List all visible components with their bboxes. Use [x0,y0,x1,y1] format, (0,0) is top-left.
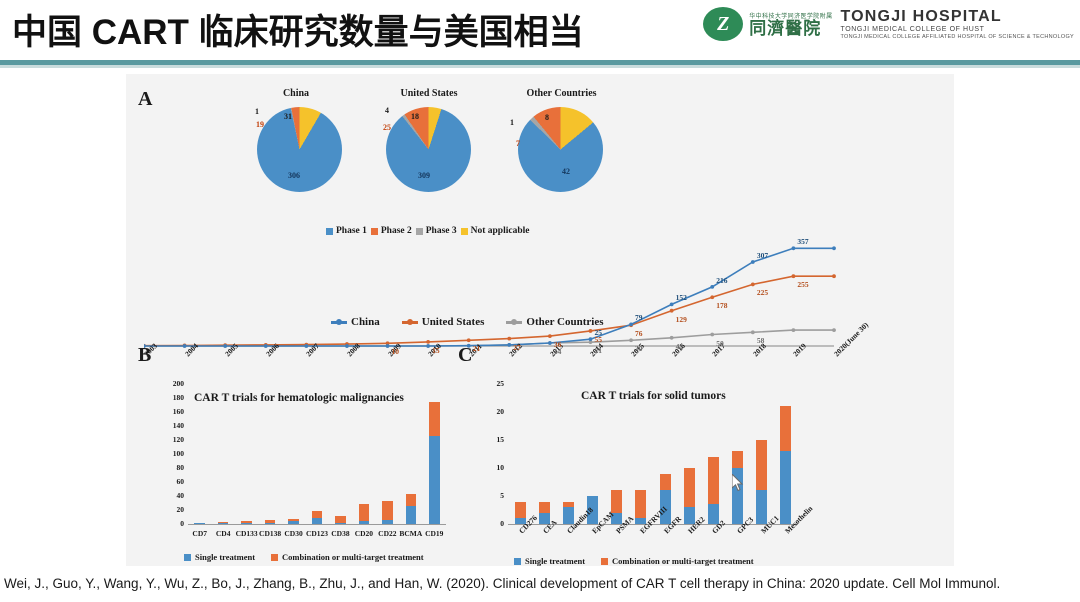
legend-label-single-b: Single treatment [195,552,255,562]
pie-label-china-phase1: 306 [288,171,300,180]
pie-label-us-notapplicable: 18 [411,112,419,121]
bar-column [429,384,440,524]
line-data-label: 14 [554,347,562,356]
logo-en-line1: TONGJI HOSPITAL [840,8,1074,26]
line-data-label: 307 [757,251,768,260]
line-chart-legend: China United States Other Countries [331,316,604,328]
bar-column [660,384,671,524]
bar-segment-single [756,490,767,524]
pie-label-us-phase1: 309 [418,171,430,180]
bar-segment-single [288,521,299,525]
combination-swatch-icon [601,558,608,565]
line-data-label: 42 [676,342,684,351]
line-data-label: 216 [716,276,727,285]
bar-y-tick: 180 [162,393,184,402]
bar-segment-combination [429,402,440,436]
bar-y-tick: 25 [482,379,504,388]
bar-column [312,384,323,524]
bar-x-label: BCMA [399,529,422,538]
bar-y-tick: 140 [162,421,184,430]
pie-title-other-countries: Other Countries [504,88,619,99]
bar-segment-single [406,506,417,524]
line-legend-item-other-countries: Other Countries [506,316,603,328]
bar-y-tick: 160 [162,407,184,416]
bar-segment-combination [359,504,370,521]
bar-column [515,384,526,524]
bar-y-tick: 0 [162,519,184,528]
bar-x-label: CD4 [211,529,234,538]
line-chart-svg [144,234,944,356]
bar-column [218,384,229,524]
bar-y-tick: 20 [482,407,504,416]
legend-item-combination-b: Combination or multi-target treatment [271,552,424,562]
bar-column [288,384,299,524]
bar-y-tick: 20 [162,505,184,514]
bar-chart-c-legend: Single treatment Combination or multi-ta… [514,556,754,566]
line-data-label: 58 [757,336,765,345]
panel-letter-a: A [138,88,152,111]
logo-en-line3: TONGJI MEDICAL COLLEGE AFFILIATED HOSPIT… [840,34,1074,40]
bar-column [539,384,550,524]
mouse-cursor-icon [732,474,744,492]
bar-chart-b-axis-line [188,524,446,525]
bar-segment-combination [732,451,743,468]
bar-x-label: CD123 [305,529,328,538]
bar-y-tick: 0 [482,519,504,528]
bar-segment-combination [539,502,550,513]
bar-column [708,384,719,524]
pie-chart-other-countries [518,107,603,192]
bar-segment-single [780,451,791,524]
bar-segment-single [312,518,323,524]
bar-column [732,384,743,524]
bar-segment-combination [756,440,767,490]
line-data-label: 30 [635,344,643,353]
line-data-label: 27 [513,343,521,352]
pie-label-other-phase1: 42 [562,167,570,176]
line-data-label: 55 [594,335,602,344]
bar-chart-solid-tumors: CAR T trials for solid tumors 0510152025… [466,374,826,564]
bar-segment-combination [660,474,671,491]
bar-segment-combination [611,490,622,512]
legend-item-combination-c: Combination or multi-target treatment [601,556,754,566]
bar-segment-single [194,523,205,524]
bar-column [241,384,252,524]
pie-title-united-states: United States [374,88,484,99]
bar-segment-combination [335,516,346,524]
logo-cn-big: 同濟醫院 [749,20,832,38]
line-legend-label-united-states: United States [422,316,485,328]
line-data-label: 79 [635,313,643,322]
bar-y-tick: 80 [162,463,184,472]
bar-segment-combination [684,468,695,507]
pie-label-china-phase3: 1 [255,107,259,116]
slide-header: 中国 CART 临床研究数量与美国相当 Z 华中科技大学同济医学院附属 同濟醫院… [0,0,1080,62]
bar-y-tick: 120 [162,435,184,444]
line-data-label: 21 [473,344,481,353]
bar-segment-single [359,521,370,525]
legend-item-single-c: Single treatment [514,556,585,566]
line-chart-trials-by-year: 2003200420052006200720082009201020112012… [144,234,944,356]
tongji-hospital-logo: Z 华中科技大学同济医学院附属 同濟醫院 TONGJI HOSPITAL TON… [703,7,1074,41]
line-data-label: 152 [676,293,687,302]
bar-column [194,384,205,524]
bar-segment-single [335,523,346,524]
bar-column [635,384,646,524]
bar-column [359,384,370,524]
line-data-label: 10 [392,347,400,356]
single-treatment-swatch-icon [514,558,521,565]
bar-x-label: CD7 [188,529,211,538]
pie-label-china-phase2: 19 [256,120,264,129]
figure-panel: A B C China 1 19 31 306 United States 4 … [126,74,954,566]
bar-column [780,384,791,524]
line-legend-label-other-countries: Other Countries [526,316,603,328]
page-title: 中国 CART 临床研究数量与美国相当 [12,4,584,55]
pie-label-china-notapplicable: 31 [284,112,292,121]
bar-segment-combination [780,406,791,451]
bar-segment-single [429,436,440,524]
line-data-label: 129 [676,315,687,324]
citation-text: Wei, J., Guo, Y., Wang, Y., Wu, Z., Bo, … [4,576,1000,591]
single-treatment-swatch-icon [184,554,191,561]
pie-label-other-notapplicable: 8 [545,113,549,122]
bar-chart-b-legend: Single treatment Combination or multi-ta… [184,552,424,562]
bar-y-tick: 40 [162,491,184,500]
bar-column [587,384,598,524]
bar-chart-c-bars [508,384,798,524]
bar-column [406,384,417,524]
pie-label-us-phase2: 25 [383,123,391,132]
us-line-swatch-icon [402,321,418,324]
bar-y-tick: 5 [482,491,504,500]
bar-column [611,384,622,524]
legend-label-combination-b: Combination or multi-target treatment [282,552,424,562]
line-legend-item-china: China [331,316,380,328]
bar-column [684,384,695,524]
bar-chart-hematologic: CAR T trials for hematologic malignancie… [146,374,446,564]
legend-label-combination-c: Combination or multi-target treatment [612,556,754,566]
bar-y-tick: 10 [482,463,504,472]
title-divider-secondary [0,65,1080,68]
legend-label-single-c: Single treatment [525,556,585,566]
bar-y-tick: 200 [162,379,184,388]
line-data-label: 15 [432,346,440,355]
logo-english-text: TONGJI HOSPITAL TONGJI MEDICAL COLLEGE O… [840,8,1074,40]
bar-x-label: CD38 [329,529,352,538]
combination-swatch-icon [271,554,278,561]
bar-x-label: CD30 [282,529,305,538]
bar-x-label: CD133 [235,529,258,538]
line-data-label: 178 [716,301,727,310]
line-data-label: 255 [797,280,808,289]
line-data-label: 225 [757,288,768,297]
bar-column [335,384,346,524]
bar-x-label: CD22 [376,529,399,538]
bar-x-label: CD138 [258,529,281,538]
line-data-label: 357 [797,237,808,246]
bar-column [382,384,393,524]
bar-y-tick: 60 [162,477,184,486]
line-legend-item-united-states: United States [402,316,485,328]
legend-item-single-b: Single treatment [184,552,255,562]
logo-en-line2: TONGJI MEDICAL COLLEGE OF HUST [840,26,1074,33]
bar-chart-b-bars [188,384,446,524]
china-line-swatch-icon [331,321,347,324]
bar-segment-combination [708,457,719,505]
bar-column [563,384,574,524]
bar-x-label: CD20 [352,529,375,538]
logo-chinese-text: 华中科技大学同济医学院附属 同濟醫院 [749,11,832,38]
bar-segment-combination [406,494,417,506]
line-data-label: 50 [716,339,724,348]
bar-segment-combination [515,502,526,519]
line-data-label: 21 [594,346,602,355]
logo-mark-icon: Z [703,7,743,41]
other-line-swatch-icon [506,321,522,324]
bar-column [265,384,276,524]
pie-label-us-phase3: 4 [385,106,389,115]
line-data-label: 76 [635,329,643,338]
pie-label-other-phase2: 7 [516,139,520,148]
bar-segment-single [241,523,252,524]
bar-segment-combination [635,490,646,518]
line-legend-label-china: China [351,316,380,328]
bar-segment-single [382,520,393,524]
pie-label-other-phase3: 1 [510,118,514,127]
bar-y-tick: 15 [482,435,504,444]
pie-title-china: China [246,88,346,99]
bar-segment-combination [382,501,393,520]
bar-y-tick: 100 [162,449,184,458]
bar-segment-single [265,523,276,524]
bar-x-label: CD19 [423,529,446,538]
bar-segment-single [218,523,229,524]
bar-column [756,384,767,524]
